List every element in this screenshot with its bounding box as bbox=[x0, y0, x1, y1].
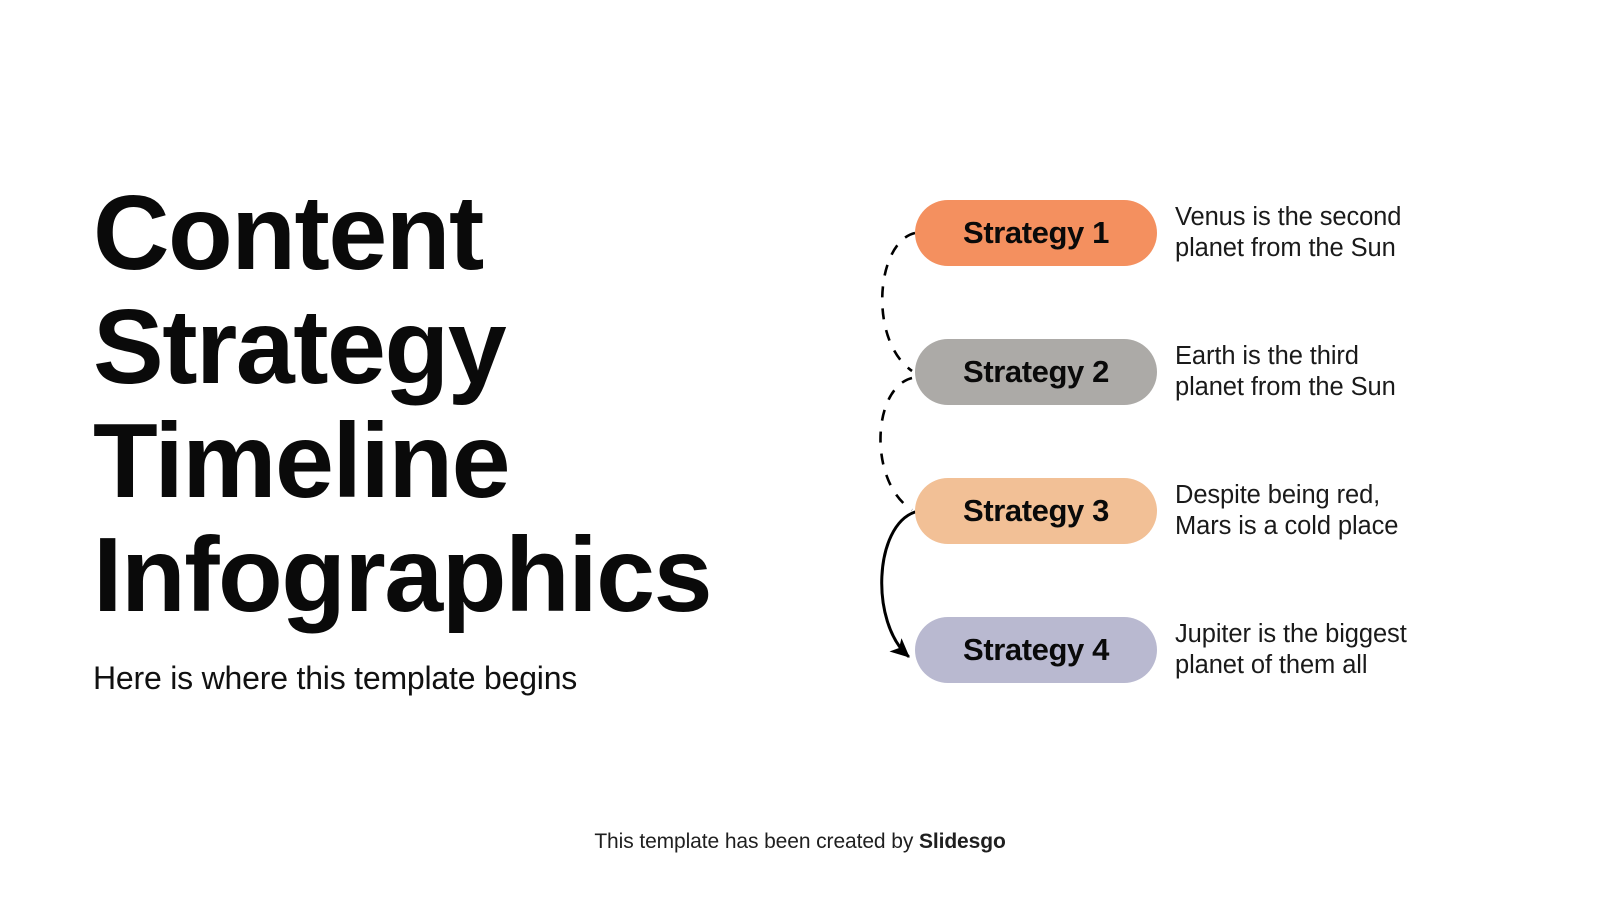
strategy-2-label: Strategy 2 bbox=[963, 354, 1109, 390]
strategy-1-description: Venus is the second planet from the Sun bbox=[1175, 202, 1401, 264]
footer-credit: This template has been created by Slides… bbox=[0, 830, 1600, 854]
timeline-step-2[interactable]: Strategy 2 Earth is the third planet fro… bbox=[915, 339, 1396, 405]
strategy-3-label: Strategy 3 bbox=[963, 493, 1109, 529]
strategy-4-description: Jupiter is the biggest planet of them al… bbox=[1175, 619, 1407, 681]
footer-brand-slidesgo[interactable]: Slidesgo bbox=[919, 830, 1006, 853]
timeline-step-3[interactable]: Strategy 3 Despite being red, Mars is a … bbox=[915, 478, 1398, 544]
timeline-step-4[interactable]: Strategy 4 Jupiter is the biggest planet… bbox=[915, 617, 1407, 683]
strategy-1-label: Strategy 1 bbox=[963, 215, 1109, 251]
slide-canvas: Content Strategy Timeline Infographics H… bbox=[0, 0, 1600, 900]
connector-3-to-4 bbox=[882, 512, 915, 656]
strategy-2-description: Earth is the third planet from the Sun bbox=[1175, 341, 1396, 403]
page-title: Content Strategy Timeline Infographics bbox=[93, 176, 853, 632]
page-subtitle: Here is where this template begins bbox=[93, 658, 853, 698]
hero-text-block: Content Strategy Timeline Infographics H… bbox=[93, 176, 853, 698]
footer-text: This template has been created by bbox=[594, 830, 919, 853]
strategy-1-pill[interactable]: Strategy 1 bbox=[915, 200, 1157, 266]
strategy-4-label: Strategy 4 bbox=[963, 632, 1109, 668]
strategy-2-pill[interactable]: Strategy 2 bbox=[915, 339, 1157, 405]
strategy-4-pill[interactable]: Strategy 4 bbox=[915, 617, 1157, 683]
strategy-3-description: Despite being red, Mars is a cold place bbox=[1175, 480, 1398, 542]
timeline-step-1[interactable]: Strategy 1 Venus is the second planet fr… bbox=[915, 200, 1401, 266]
strategy-3-pill[interactable]: Strategy 3 bbox=[915, 478, 1157, 544]
timeline-diagram: Strategy 1 Venus is the second planet fr… bbox=[860, 190, 1500, 680]
connector-2-to-3 bbox=[880, 378, 912, 510]
connector-1-to-2 bbox=[882, 233, 915, 371]
